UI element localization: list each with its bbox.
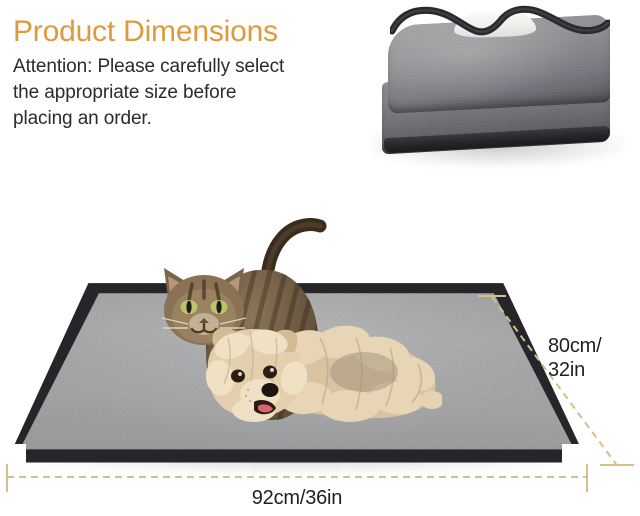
height-dimension-label: 80cm/ 32in bbox=[548, 334, 640, 382]
height-label-line-1: 80cm/ bbox=[548, 334, 640, 358]
text-block: Product Dimensions Attention: Please car… bbox=[13, 14, 343, 132]
folded-blanket-image bbox=[368, 2, 628, 170]
attention-line-1: Attention: Please carefully select bbox=[13, 54, 343, 80]
height-label-line-2: 32in bbox=[548, 358, 640, 382]
pets-group bbox=[150, 218, 450, 440]
mat-corner-mask-tr bbox=[560, 276, 586, 296]
blanket-top-binding-edge bbox=[390, 5, 610, 41]
width-dimension-label: 92cm/36in bbox=[0, 486, 594, 510]
attention-line-2: the appropriate size before bbox=[13, 80, 343, 106]
attention-text: Attention: Please carefully select the a… bbox=[13, 54, 343, 132]
mat-corner-mask-tl bbox=[0, 276, 26, 296]
dog-head bbox=[198, 324, 314, 424]
attention-line-3: placing an order. bbox=[13, 106, 343, 132]
page-title: Product Dimensions bbox=[13, 14, 343, 50]
product-dimensions-infographic: Product Dimensions Attention: Please car… bbox=[0, 0, 640, 516]
